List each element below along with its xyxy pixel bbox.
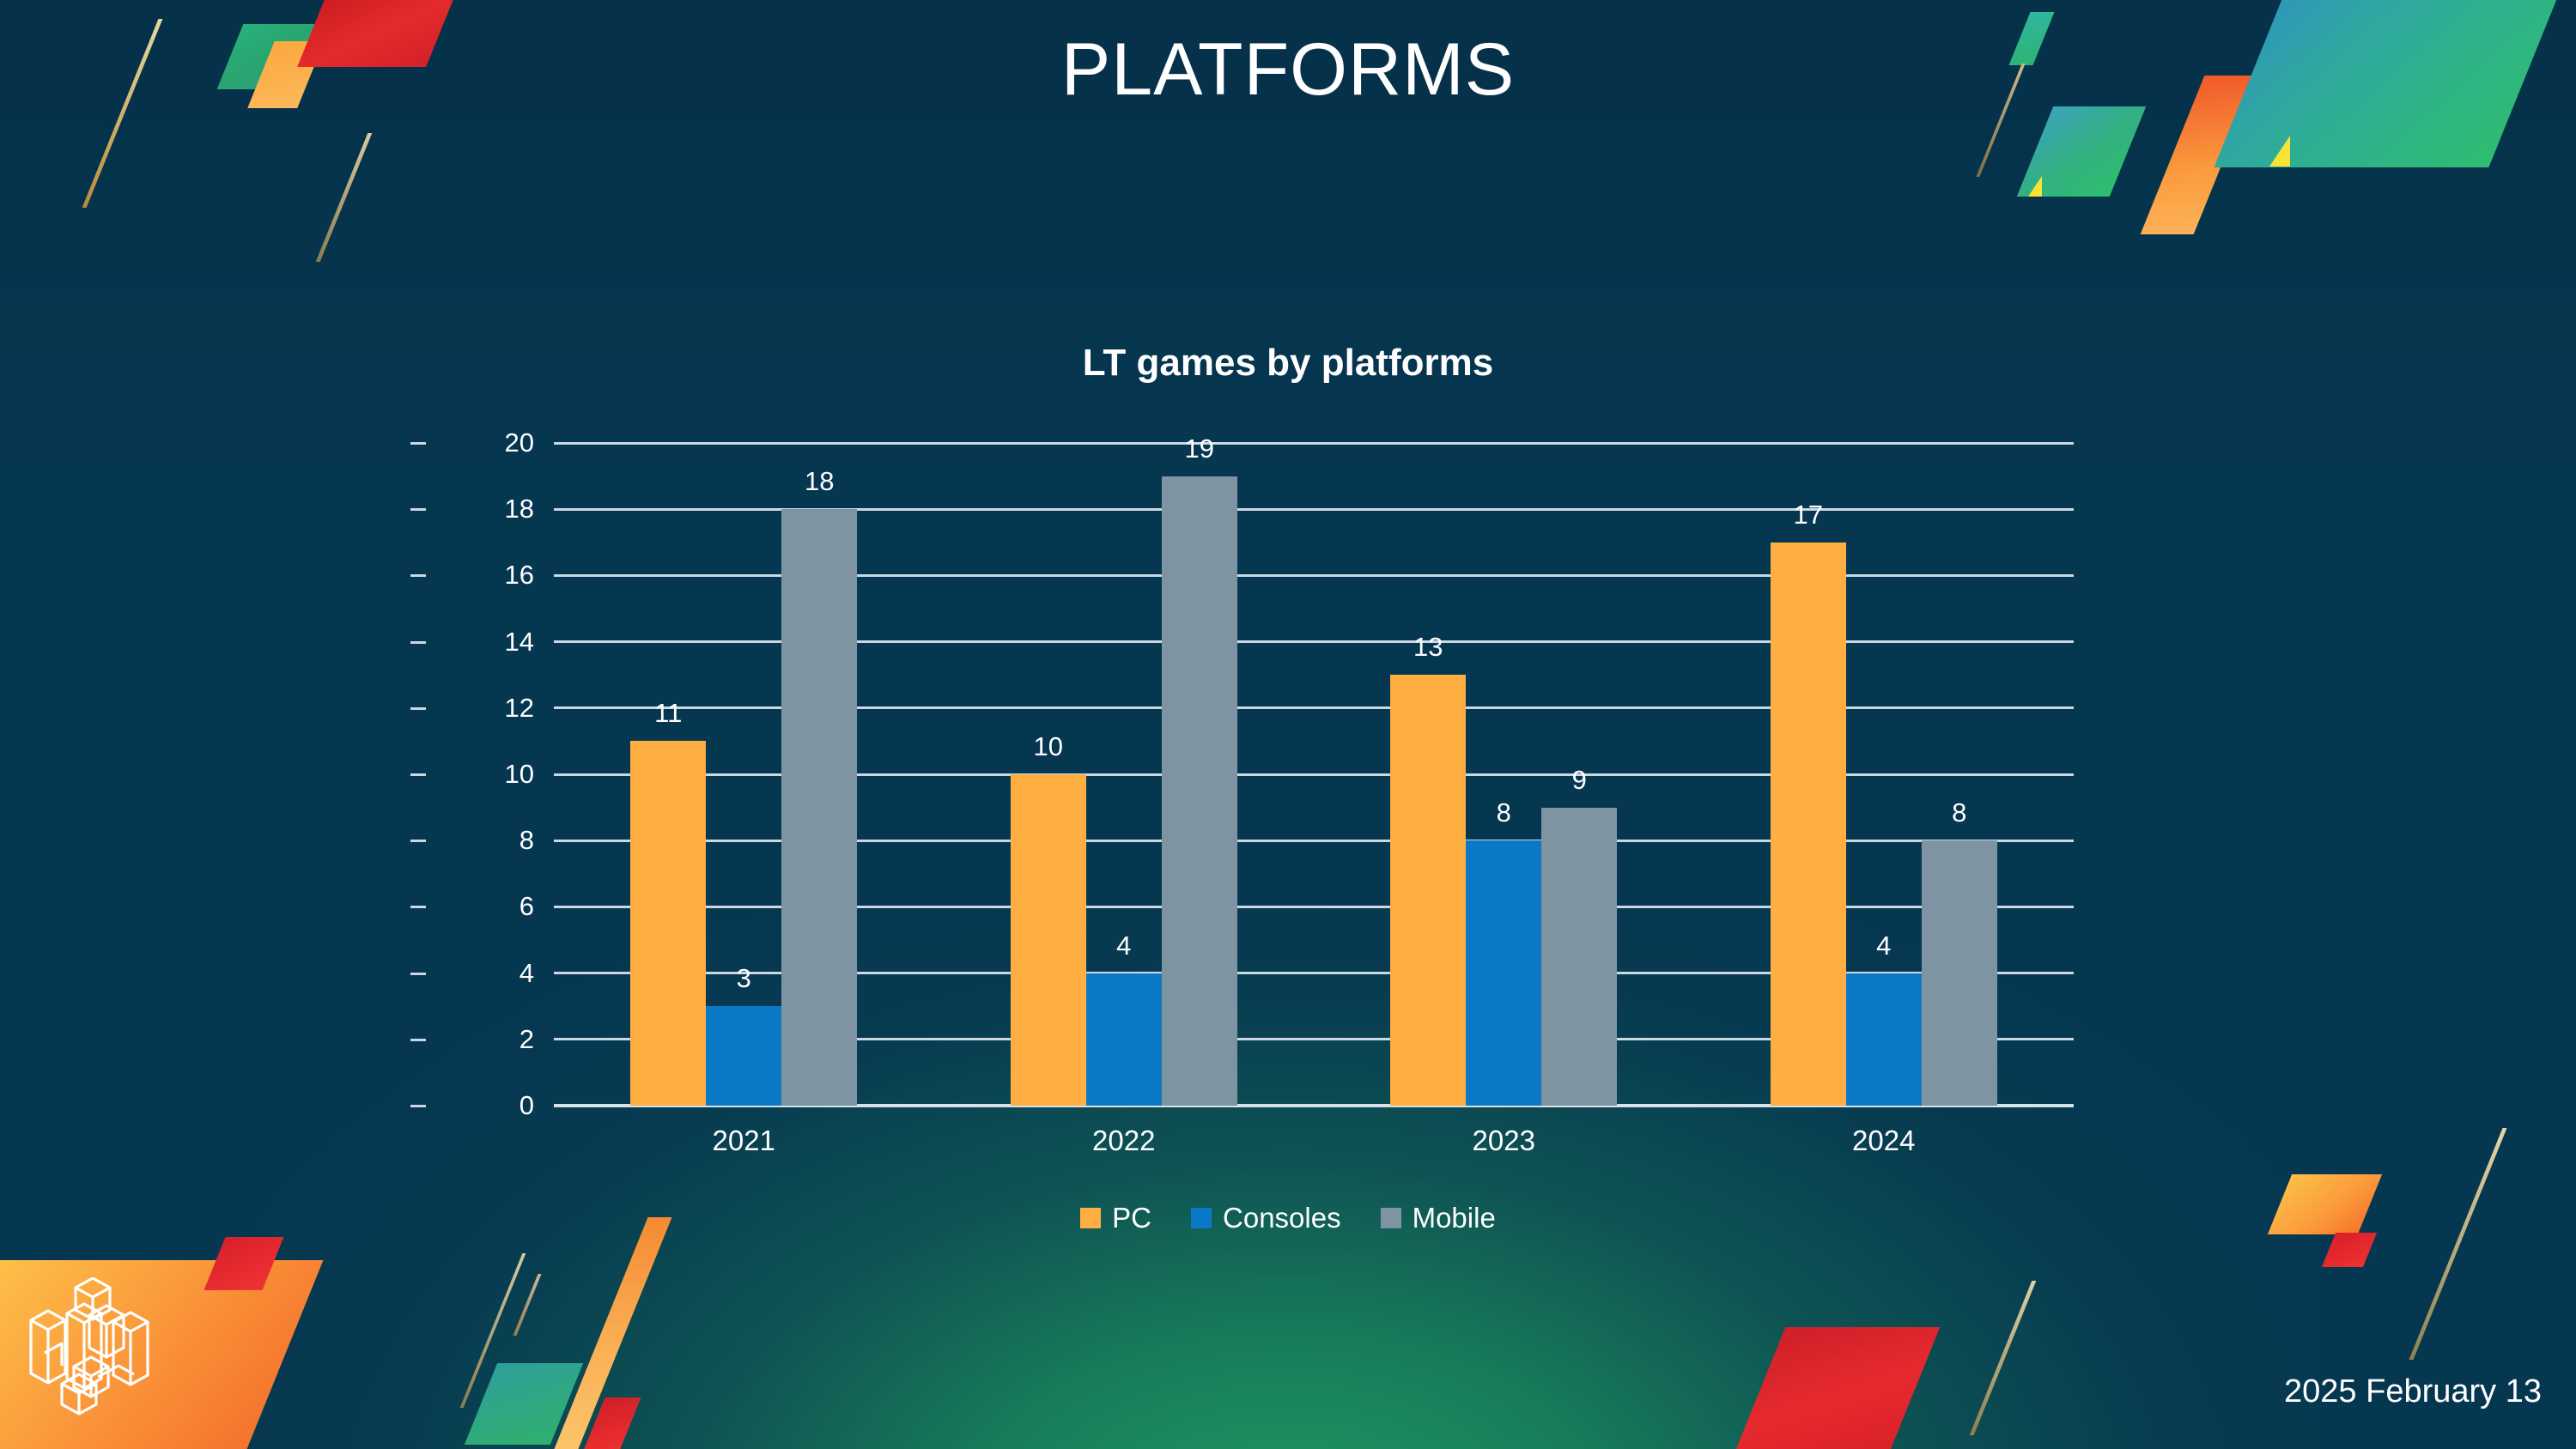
isometric-blocks-logo-icon — [24, 1277, 161, 1419]
bar-value-label: 4 — [1116, 931, 1131, 961]
y-axis-tick-mark — [410, 1039, 426, 1041]
y-axis-tick-label: 12 — [431, 693, 534, 724]
bar-column[interactable]: 17 — [1771, 443, 1846, 1106]
bar-consoles[interactable] — [1846, 973, 1922, 1106]
y-axis-tick-label: 10 — [431, 759, 534, 790]
y-axis-tick-label: 6 — [431, 891, 534, 922]
y-axis-tick-mark — [410, 906, 426, 908]
legend-label: Consoles — [1223, 1202, 1341, 1234]
chart-title: LT games by platforms — [0, 342, 2576, 385]
x-axis-tick-label: 2022 — [995, 1125, 1253, 1157]
bar-pc[interactable] — [1771, 543, 1846, 1106]
legend-label: PC — [1112, 1202, 1151, 1234]
y-axis-tick-mark — [410, 707, 426, 710]
bar-column[interactable]: 3 — [706, 443, 781, 1106]
bar-value-label: 18 — [805, 466, 834, 497]
bar-pc[interactable] — [1390, 675, 1466, 1106]
legend-item-mobile[interactable]: Mobile — [1381, 1202, 1496, 1234]
y-axis-tick-label: 18 — [431, 494, 534, 524]
legend-swatch-icon — [1080, 1208, 1101, 1228]
y-axis-tick-label: 0 — [431, 1090, 534, 1121]
x-axis-tick-label: 2024 — [1755, 1125, 2013, 1157]
y-axis-tick-label: 2 — [431, 1024, 534, 1055]
bar-column[interactable]: 11 — [630, 443, 706, 1106]
bar-column[interactable]: 10 — [1011, 443, 1086, 1106]
bar-value-label: 11 — [654, 698, 682, 729]
y-axis-tick-mark — [410, 840, 426, 842]
x-axis-tick-label: 2021 — [615, 1125, 872, 1157]
y-axis-tick-mark — [410, 442, 426, 445]
bar-column[interactable]: 4 — [1086, 443, 1162, 1106]
chart-legend: PCConsolesMobile — [0, 1202, 2576, 1234]
bar-chart: LT games by platforms 02468101214161820 … — [0, 0, 2576, 1449]
presentation-slide: PLATFORMS LT games by platforms 02468101… — [0, 0, 2576, 1449]
bar-value-label: 17 — [1794, 500, 1823, 530]
bar-value-label: 4 — [1876, 931, 1891, 961]
bar-value-label: 9 — [1572, 765, 1587, 796]
bar-group: 10419 — [934, 443, 1315, 1106]
y-axis-tick-mark — [410, 773, 426, 776]
y-axis-tick-label: 14 — [431, 627, 534, 658]
bar-mobile[interactable] — [781, 509, 857, 1106]
bar-value-label: 8 — [1497, 797, 1511, 828]
y-axis-tick-mark — [410, 508, 426, 511]
bar-group: 11318 — [554, 443, 934, 1106]
chart-bar-groups: 113181041913891748 — [554, 443, 2074, 1106]
bar-column[interactable]: 9 — [1541, 443, 1617, 1106]
legend-item-pc[interactable]: PC — [1080, 1202, 1151, 1234]
bar-consoles[interactable] — [706, 1006, 781, 1106]
bar-consoles[interactable] — [1086, 973, 1162, 1106]
bar-value-label: 3 — [737, 963, 751, 994]
chart-plot-area: 02468101214161820 113181041913891748 202… — [554, 443, 2074, 1106]
page-title: PLATFORMS — [0, 27, 2576, 112]
y-axis-tick-label: 8 — [431, 825, 534, 856]
bar-column[interactable]: 18 — [781, 443, 857, 1106]
bar-column[interactable]: 8 — [1466, 443, 1541, 1106]
footer-date: 2025 February 13 — [2284, 1373, 2542, 1410]
bar-group: 1748 — [1694, 443, 2075, 1106]
y-axis-tick-mark — [410, 641, 426, 644]
legend-swatch-icon — [1381, 1208, 1401, 1228]
bar-mobile[interactable] — [1922, 840, 1997, 1106]
bar-column[interactable]: 13 — [1390, 443, 1466, 1106]
bar-consoles[interactable] — [1466, 840, 1541, 1106]
bar-mobile[interactable] — [1162, 476, 1237, 1106]
legend-label: Mobile — [1413, 1202, 1496, 1234]
bar-value-label: 19 — [1185, 433, 1214, 464]
y-axis-tick-mark — [410, 973, 426, 975]
legend-swatch-icon — [1191, 1208, 1212, 1228]
x-axis-tick-label: 2023 — [1375, 1125, 1632, 1157]
bar-pc[interactable] — [1011, 774, 1086, 1106]
y-axis-tick-label: 16 — [431, 560, 534, 591]
bar-column[interactable]: 8 — [1922, 443, 1997, 1106]
bar-value-label: 10 — [1034, 731, 1063, 762]
y-axis-tick-label: 20 — [431, 427, 534, 458]
bar-mobile[interactable] — [1541, 808, 1617, 1106]
bar-value-label: 8 — [1952, 797, 1966, 828]
bar-pc[interactable] — [630, 741, 706, 1106]
bar-group: 1389 — [1314, 443, 1694, 1106]
legend-item-consoles[interactable]: Consoles — [1191, 1202, 1341, 1234]
bar-column[interactable]: 4 — [1846, 443, 1922, 1106]
y-axis-tick-label: 4 — [431, 958, 534, 989]
bar-value-label: 13 — [1413, 632, 1443, 663]
y-axis-tick-mark — [410, 1105, 426, 1107]
y-axis-tick-mark — [410, 574, 426, 577]
bar-column[interactable]: 19 — [1162, 443, 1237, 1106]
